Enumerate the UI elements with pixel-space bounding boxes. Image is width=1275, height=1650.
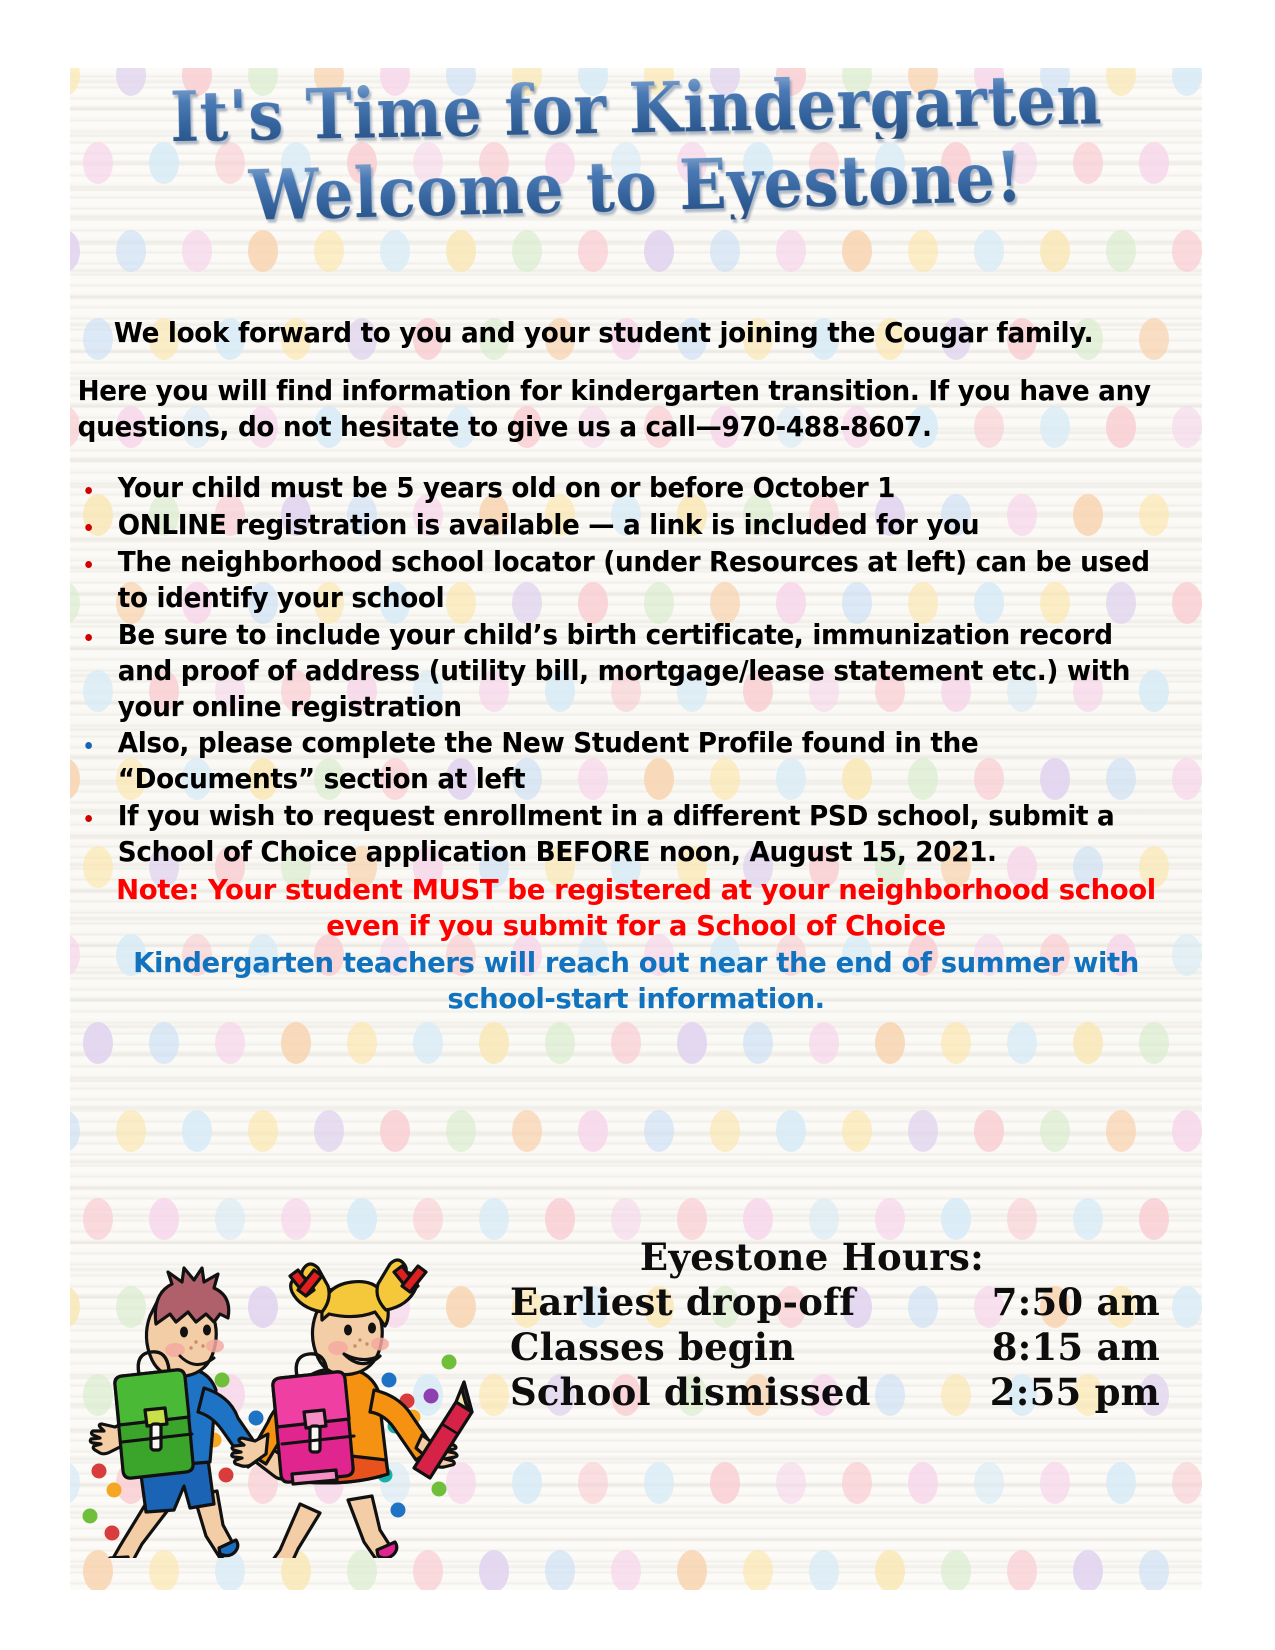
background-dot <box>545 1022 575 1064</box>
background-dot <box>512 68 542 96</box>
bullet-item: Be sure to include your child’s birth ce… <box>70 618 1151 726</box>
page-title: It's Time for Kindergarten Welcome to Ey… <box>70 78 1202 218</box>
background-dot <box>314 1110 344 1152</box>
background-dot <box>1139 142 1169 184</box>
bullet-item: Your child must be 5 years old on or bef… <box>70 471 1151 507</box>
background-dot <box>809 1022 839 1064</box>
hours-time: 2:55 pm <box>990 1370 1160 1415</box>
bullet-text: The neighborhood school locator (under R… <box>118 546 1150 614</box>
background-dot <box>70 230 80 272</box>
background-dot <box>677 1022 707 1064</box>
bullet-text: Be sure to include your child’s birth ce… <box>118 619 1130 723</box>
background-dot <box>710 1462 740 1504</box>
background-dot <box>1040 230 1070 272</box>
background-dot <box>1073 1022 1103 1064</box>
two-children-illustration <box>76 1228 506 1558</box>
background-dot <box>578 68 608 96</box>
children-clipart-svg <box>76 1228 506 1558</box>
background-dot <box>842 1462 872 1504</box>
background-dot <box>1139 1198 1169 1240</box>
hours-row: School dismissed2:55 pm <box>500 1370 1160 1415</box>
teachers-outreach-text: Kindergarten teachers will reach out nea… <box>70 946 1202 1018</box>
background-dot <box>446 68 476 96</box>
background-dot <box>611 1198 641 1240</box>
background-dot <box>974 1462 1004 1504</box>
background-dot <box>644 1462 674 1504</box>
background-dot <box>83 1022 113 1064</box>
background-dot <box>809 1550 839 1590</box>
girl-figure <box>232 1260 472 1558</box>
background-dot <box>248 230 278 272</box>
background-dot <box>677 1198 707 1240</box>
background-dot <box>413 142 443 184</box>
requirements-bullet-list: Your child must be 5 years old on or bef… <box>70 471 1202 871</box>
background-dot <box>116 230 146 272</box>
background-dot <box>908 1462 938 1504</box>
background-dot <box>1106 1110 1136 1152</box>
background-dot <box>842 1110 872 1152</box>
background-dot <box>545 142 575 184</box>
background-dot <box>1073 142 1103 184</box>
background-dot <box>1172 1110 1202 1152</box>
background-dot <box>743 142 773 184</box>
background-dot <box>1172 1462 1202 1504</box>
background-dot <box>116 68 146 96</box>
background-dot <box>314 68 344 96</box>
background-dot <box>1106 68 1136 96</box>
background-dot <box>611 1550 641 1590</box>
title-line-1: It's Time for Kindergarten <box>70 68 1202 155</box>
background-dot <box>149 1022 179 1064</box>
background-dot <box>248 1110 278 1152</box>
hours-row: Earliest drop-off7:50 am <box>500 1280 1160 1325</box>
bullet-text: Your child must be 5 years old on or bef… <box>118 472 895 504</box>
bullet-dot-icon <box>85 815 92 822</box>
background-dot <box>446 230 476 272</box>
background-dot <box>974 68 1004 96</box>
background-dot <box>644 68 674 96</box>
background-dot <box>1172 1286 1202 1328</box>
background-dot <box>215 1022 245 1064</box>
background-dot <box>644 230 674 272</box>
background-dot <box>1040 1462 1070 1504</box>
background-dot <box>677 1550 707 1590</box>
background-dot <box>149 142 179 184</box>
background-dot <box>875 1198 905 1240</box>
background-dot <box>413 1022 443 1064</box>
note-text: Note: Your student MUST be registered at… <box>70 873 1202 945</box>
hours-label: School dismissed <box>510 1370 871 1415</box>
background-dot <box>974 230 1004 272</box>
background-dot <box>1106 230 1136 272</box>
bullet-item: If you wish to request enrollment in a d… <box>70 799 1151 871</box>
hours-row: Classes begin8:15 am <box>500 1325 1160 1370</box>
background-dot <box>644 1110 674 1152</box>
hours-label: Classes begin <box>510 1325 795 1370</box>
bullet-item: The neighborhood school locator (under R… <box>70 545 1151 617</box>
background-dot <box>578 1110 608 1152</box>
background-dot <box>743 1550 773 1590</box>
background-dot <box>809 142 839 184</box>
background-dot <box>578 230 608 272</box>
background-dot <box>842 68 872 96</box>
background-dot <box>347 142 377 184</box>
background-dot <box>281 142 311 184</box>
background-dot <box>941 1198 971 1240</box>
background-dot <box>908 1110 938 1152</box>
flyer-page: It's Time for Kindergarten Welcome to Ey… <box>0 0 1275 1650</box>
bullet-text: ONLINE registration is available — a lin… <box>118 509 979 541</box>
background-dot <box>1139 1550 1169 1590</box>
bullet-text: If you wish to request enrollment in a d… <box>118 800 1115 868</box>
title-line-2: Welcome to Eyestone! <box>70 138 1202 235</box>
background-dot <box>941 142 971 184</box>
background-dot <box>70 1110 80 1152</box>
background-dot <box>1007 1022 1037 1064</box>
bullet-text: Also, please complete the New Student Pr… <box>118 727 979 795</box>
background-dot <box>743 1022 773 1064</box>
background-dot <box>611 142 641 184</box>
background-dot <box>446 1110 476 1152</box>
background-dot <box>1040 68 1070 96</box>
background-dot <box>1007 1198 1037 1240</box>
background-dot <box>1073 1550 1103 1590</box>
bullet-dot-icon <box>85 561 92 568</box>
bullet-dot-icon <box>85 742 92 749</box>
background-dot <box>974 1110 1004 1152</box>
hours-label: Earliest drop-off <box>510 1280 855 1325</box>
background-dot <box>875 1550 905 1590</box>
background-dot <box>83 142 113 184</box>
background-dot <box>116 1110 146 1152</box>
background-dot <box>776 1110 806 1152</box>
background-dot <box>908 68 938 96</box>
background-dot <box>380 230 410 272</box>
background-dot <box>710 68 740 96</box>
background-dot <box>215 142 245 184</box>
background-dot <box>677 142 707 184</box>
background-dot <box>842 230 872 272</box>
background-dot <box>380 68 410 96</box>
background-dot <box>743 1198 773 1240</box>
background-dot <box>182 230 212 272</box>
bullet-dot-icon <box>85 487 92 494</box>
hours-time: 8:15 am <box>992 1325 1160 1370</box>
background-dot <box>611 1022 641 1064</box>
bullet-dot-icon <box>85 524 92 531</box>
bullet-item: ONLINE registration is available — a lin… <box>70 508 1151 544</box>
background-dot <box>875 1022 905 1064</box>
patterned-paper-background: It's Time for Kindergarten Welcome to Ey… <box>70 68 1202 1590</box>
intro-paragraph: Here you will find information for kinde… <box>70 374 1151 446</box>
hours-time: 7:50 am <box>992 1280 1160 1325</box>
background-dot <box>347 1022 377 1064</box>
background-dot <box>1106 1462 1136 1504</box>
background-dot <box>776 1462 806 1504</box>
background-dot <box>908 230 938 272</box>
background-dot <box>776 68 806 96</box>
background-dot <box>809 1198 839 1240</box>
background-dot <box>479 1022 509 1064</box>
background-dot <box>512 1462 542 1504</box>
background-dot <box>875 142 905 184</box>
background-dot <box>941 1022 971 1064</box>
background-dot <box>182 68 212 96</box>
intro-line: We look forward to you and your student … <box>70 316 1151 352</box>
background-dot <box>479 142 509 184</box>
background-dot <box>1007 1550 1037 1590</box>
background-dot <box>710 230 740 272</box>
background-dot <box>545 1550 575 1590</box>
background-dot <box>182 1110 212 1152</box>
boy-figure <box>90 1268 300 1558</box>
background-dot <box>578 1462 608 1504</box>
background-dot <box>1040 1110 1070 1152</box>
background-dot <box>512 1110 542 1152</box>
bullet-item: Also, please complete the New Student Pr… <box>70 726 1151 798</box>
background-dot <box>281 1022 311 1064</box>
bullet-dot-icon <box>85 634 92 641</box>
background-dot <box>710 1110 740 1152</box>
eyestone-hours-block: Eyestone Hours: Earliest drop-off7:50 am… <box>500 1236 1160 1415</box>
background-dot <box>1172 230 1202 272</box>
hours-rows: Earliest drop-off7:50 amClasses begin8:1… <box>500 1280 1160 1415</box>
background-dot <box>70 68 80 96</box>
hours-title: Eyestone Hours: <box>500 1236 1160 1280</box>
background-dot <box>545 1198 575 1240</box>
background-dot <box>941 1550 971 1590</box>
body-content: We look forward to you and your student … <box>70 316 1202 1018</box>
background-dot <box>1073 1198 1103 1240</box>
background-dot <box>380 1110 410 1152</box>
background-dot <box>248 68 278 96</box>
background-dot <box>1007 142 1037 184</box>
background-dot <box>1172 68 1202 96</box>
background-dot <box>1139 1022 1169 1064</box>
background-dot <box>776 230 806 272</box>
background-dot <box>512 230 542 272</box>
background-dot <box>314 230 344 272</box>
